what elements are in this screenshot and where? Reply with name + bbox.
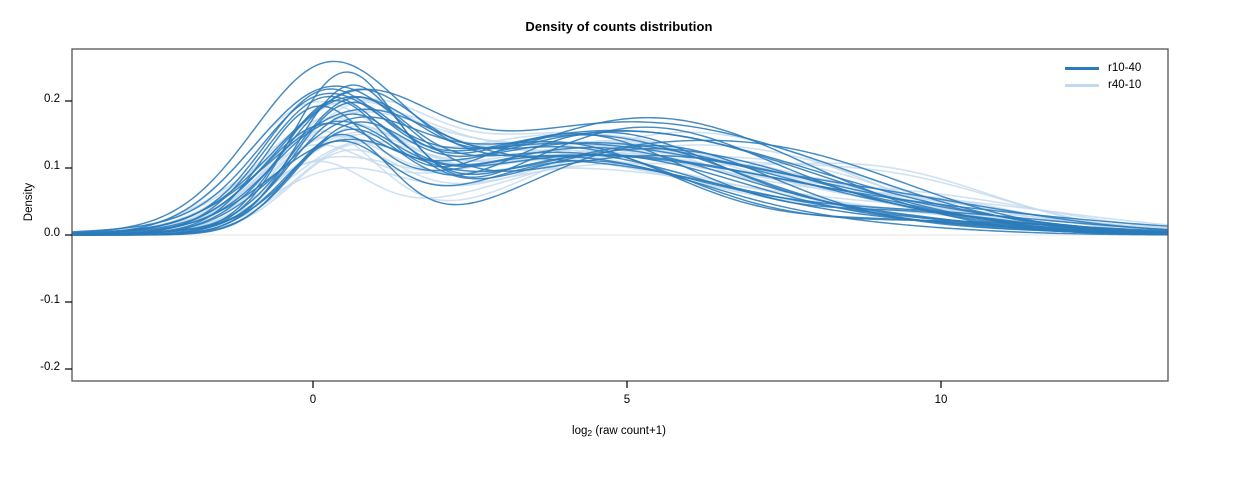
x-axis-label-base: log (572, 425, 587, 437)
legend-label-0: r10-40 (1108, 60, 1141, 77)
x-axis-label-rest: (raw count+1) (592, 425, 666, 437)
y-tick-label-2: 0.0 (0, 227, 60, 239)
legend-item-1[interactable]: r40-10 (1065, 77, 1170, 94)
legend-label-1: r40-10 (1108, 77, 1141, 94)
legend-item-0[interactable]: r10-40 (1065, 60, 1170, 77)
chart-root: Density of counts distribution Density l… (0, 0, 1238, 500)
y-tick-label-1: 0.1 (0, 160, 60, 172)
legend-swatch-icon-0 (1065, 67, 1099, 70)
legend-swatch-icon-1 (1065, 84, 1099, 87)
x-tick-label-2: 10 (911, 394, 971, 406)
y-tick-label-3: -0.1 (0, 294, 60, 306)
legend: r10-40 r40-10 (1065, 60, 1170, 94)
y-tick-label-4: -0.2 (0, 361, 60, 373)
x-tick-label-1: 5 (597, 394, 657, 406)
x-axis-label: log2 (raw count+1) (0, 425, 1238, 438)
y-tick-label-0: 0.2 (0, 93, 60, 105)
x-tick-label-0: 0 (283, 394, 343, 406)
